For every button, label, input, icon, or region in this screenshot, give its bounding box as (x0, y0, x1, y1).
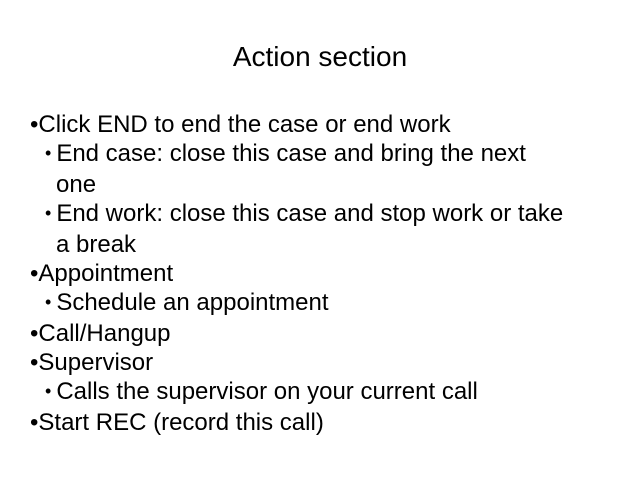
list-item-continuation: one (26, 170, 626, 199)
list-item-continuation: a break (26, 230, 626, 259)
list-item-label: Schedule an appointment (56, 289, 328, 316)
list-item: •Click END to end the case or end work (26, 110, 626, 139)
list-item: •Schedule an appointment (26, 288, 626, 319)
list-item: •Call/Hangup (26, 319, 626, 348)
bullet-icon: • (45, 292, 56, 312)
list-item: •End case: close this case and bring the… (26, 139, 626, 170)
list-item: •Calls the supervisor on your current ca… (26, 377, 626, 408)
list-item: •Supervisor (26, 348, 626, 377)
slide-canvas: Action section •Click END to end the cas… (0, 0, 640, 480)
list-item-label: Appointment (38, 260, 173, 287)
bullet-list: •Click END to end the case or end work•E… (26, 110, 626, 437)
list-item-label: Supervisor (38, 349, 153, 376)
list-item: •End work: close this case and stop work… (26, 199, 626, 230)
bullet-icon: • (45, 203, 56, 223)
page-title: Action section (0, 40, 640, 74)
bullet-icon: • (45, 381, 56, 401)
list-item-label: Start REC (record this call) (38, 409, 323, 436)
list-item-label: End work: close this case and stop work … (56, 200, 563, 227)
list-item-label: Call/Hangup (38, 320, 170, 347)
list-item-label: Click END to end the case or end work (38, 111, 450, 138)
list-item-label: Calls the supervisor on your current cal… (56, 378, 478, 405)
list-item: •Appointment (26, 259, 626, 288)
list-item-label: a break (56, 231, 136, 258)
list-item-label: one (56, 171, 96, 198)
bullet-icon: • (45, 143, 56, 163)
list-item-label: End case: close this case and bring the … (56, 140, 526, 167)
list-item: •Start REC (record this call) (26, 408, 626, 437)
